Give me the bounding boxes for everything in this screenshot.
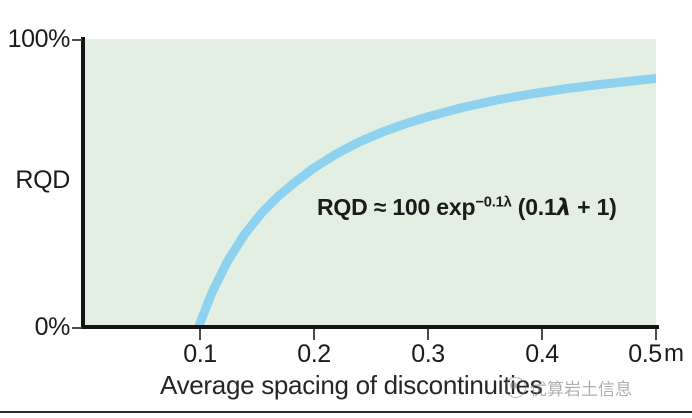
y-tick-mark-0: [72, 327, 82, 329]
equation-prefix: RQD ≈ 100 exp: [317, 194, 475, 220]
y-tick-mark-100: [72, 39, 82, 41]
watermark-text: 优算岩土信息: [530, 375, 632, 400]
equation-lambda: λ: [557, 195, 571, 221]
x-tick-label-0-3: 0.3: [411, 340, 445, 369]
bottom-divider: [0, 411, 692, 413]
x-tick-label-0-5: 0.5: [628, 340, 662, 369]
equation-suffix-close: + 1): [571, 194, 617, 220]
x-axis-title: Average spacing of discontinuities: [160, 370, 542, 401]
x-tick-label-0-2: 0.2: [297, 340, 331, 369]
y-tick-label-0: 0%: [35, 313, 70, 342]
x-tick-label-0-1: 0.1: [183, 340, 217, 369]
x-axis-line: [81, 325, 659, 329]
circle-logo-icon: [505, 377, 526, 398]
equation-annotation: RQD ≈ 100 exp−0.1λ (0.1λ + 1): [317, 194, 617, 221]
equation-exponent: −0.1λ: [475, 194, 511, 210]
watermark: 优算岩土信息: [505, 375, 632, 400]
x-tick-mark-0-3: [427, 329, 429, 340]
x-axis-unit-label: m: [664, 340, 684, 368]
equation-suffix-open: (0.1: [512, 194, 557, 220]
y-tick-label-100: 100%: [8, 25, 70, 54]
x-tick-mark-0-2: [313, 329, 315, 340]
x-tick-label-0-4: 0.4: [525, 340, 559, 369]
y-axis-line: [81, 37, 85, 329]
x-tick-mark-0-5: [655, 329, 657, 340]
x-tick-mark-0-4: [541, 329, 543, 340]
rqd-chart-figure: 100% 0% RQD 0.1 0.2 0.3 0.4 0.5 m Averag…: [0, 0, 692, 418]
rqd-curve: [84, 39, 656, 327]
x-tick-mark-0-1: [199, 329, 201, 340]
y-axis-title: RQD: [15, 166, 70, 195]
